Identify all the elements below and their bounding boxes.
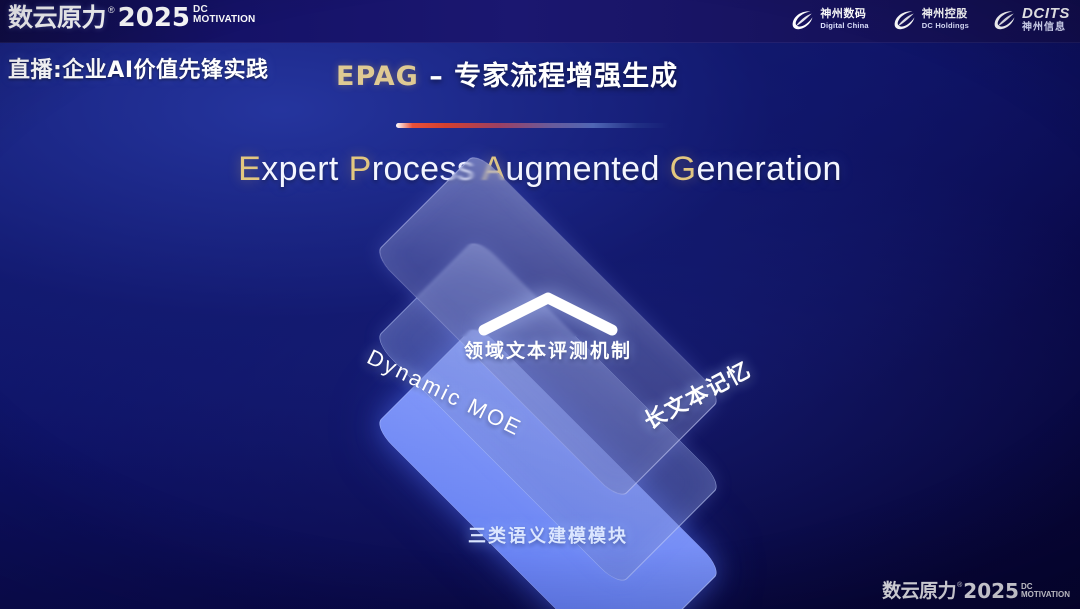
title-separator: – bbox=[419, 61, 454, 92]
swirl-logo-icon bbox=[991, 7, 1017, 33]
brand-motivation-text: MOTIVATION bbox=[193, 14, 255, 25]
watermark-name-cn: 数云原力 bbox=[882, 580, 956, 603]
partner-logo-dc-holdings: 神州控股 DC Holdings bbox=[891, 7, 969, 33]
partner-text: 神州数码 Digital China bbox=[820, 9, 868, 30]
watermark-motivation-text: MOTIVATION bbox=[1021, 590, 1070, 599]
layer-stack-diagram: 领域文本评测机制 Dynamic MOE 长文本记忆 三类语义建模模块 bbox=[300, 228, 796, 574]
header-band: 数云原力 ® 2025 DC MOTIVATION 神州数码 Digital C… bbox=[0, 0, 1080, 43]
watermark-subtitle: DC MOTIVATION bbox=[1021, 583, 1070, 599]
swirl-logo-icon bbox=[789, 7, 815, 33]
partner-text: DCITS 神州信息 bbox=[1022, 6, 1070, 33]
watermark-dc-text: DC bbox=[1021, 583, 1070, 590]
expansion-rest-augmented: ugmented bbox=[505, 150, 659, 188]
partner-name-en: Digital China bbox=[820, 22, 868, 30]
expansion-rest-generation: eneration bbox=[696, 150, 841, 188]
acronym-expansion: Expert Process Augmented Generation bbox=[0, 150, 1080, 189]
swirl-logo-icon bbox=[891, 7, 917, 33]
title-acronym: EPAG bbox=[336, 61, 419, 92]
partner-name-cn: 神州控股 bbox=[922, 9, 969, 20]
partner-name-cn: 神州数码 bbox=[820, 9, 868, 20]
expansion-cap-p: P bbox=[349, 150, 372, 188]
expansion-rest-expert: xpert bbox=[261, 150, 339, 188]
partner-logo-dcits: DCITS 神州信息 bbox=[991, 6, 1070, 33]
brand-name-cn: 数云原力 bbox=[8, 3, 106, 33]
partner-name-cn: DCITS bbox=[1022, 6, 1070, 21]
watermark-year: 2025 bbox=[963, 580, 1019, 603]
brand-dc-text: DC bbox=[193, 5, 255, 14]
partner-text: 神州控股 DC Holdings bbox=[922, 9, 969, 30]
partner-logo-digital-china: 神州数码 Digital China bbox=[789, 7, 868, 33]
brand-registered-mark: ® bbox=[108, 3, 115, 17]
title-chinese: 专家流程增强生成 bbox=[454, 61, 678, 92]
presentation-slide: 数云原力 ® 2025 DC MOTIVATION 神州数码 Digital C… bbox=[0, 0, 1080, 609]
watermark-registered-mark: ® bbox=[957, 580, 962, 591]
brand-year: 2025 bbox=[118, 3, 190, 33]
partner-logos: 神州数码 Digital China 神州控股 DC Holdings bbox=[789, 6, 1070, 33]
partner-name-en: 神州信息 bbox=[1022, 23, 1070, 33]
brand-watermark: 数云原力 ® 2025 DC MOTIVATION bbox=[882, 580, 1070, 603]
live-stream-label: 直播:企业AI价值先锋实践 bbox=[8, 52, 269, 84]
brand-lockup: 数云原力 ® 2025 DC MOTIVATION bbox=[8, 3, 255, 33]
expansion-cap-g: G bbox=[670, 150, 697, 188]
partner-name-en: DC Holdings bbox=[922, 22, 969, 30]
gradient-divider bbox=[396, 123, 670, 128]
brand-subtitle: DC MOTIVATION bbox=[193, 5, 255, 25]
expansion-cap-e: E bbox=[238, 150, 261, 188]
page-title: EPAG – 专家流程增强生成 bbox=[336, 54, 678, 93]
